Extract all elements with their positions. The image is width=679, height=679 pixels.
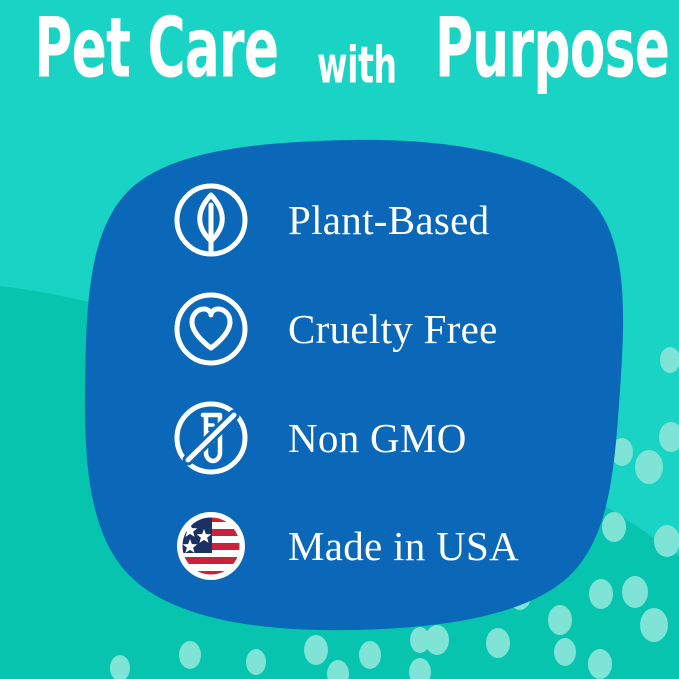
claim-row-non-gmo: Non GMO: [170, 392, 590, 484]
heart-icon: [170, 288, 252, 370]
no-test-tube-icon: [170, 397, 252, 479]
claim-label-non-gmo: Non GMO: [288, 418, 467, 459]
claim-row-cruelty-free: Cruelty Free: [170, 283, 590, 375]
claim-label-cruelty-free: Cruelty Free: [288, 309, 498, 350]
promo-banner: Pet CarewithPurpose® Plant-Based Cruelty…: [0, 0, 679, 679]
claims-list: Plant-Based Cruelty Free: [0, 0, 679, 679]
claim-row-plant-based: Plant-Based: [170, 174, 590, 266]
claim-label-plant-based: Plant-Based: [288, 200, 489, 241]
leaf-icon: [170, 179, 252, 261]
claim-label-made-in-usa: Made in USA: [288, 526, 519, 567]
usa-flag-icon: [170, 505, 252, 587]
claim-row-made-in-usa: Made in USA: [170, 500, 590, 592]
